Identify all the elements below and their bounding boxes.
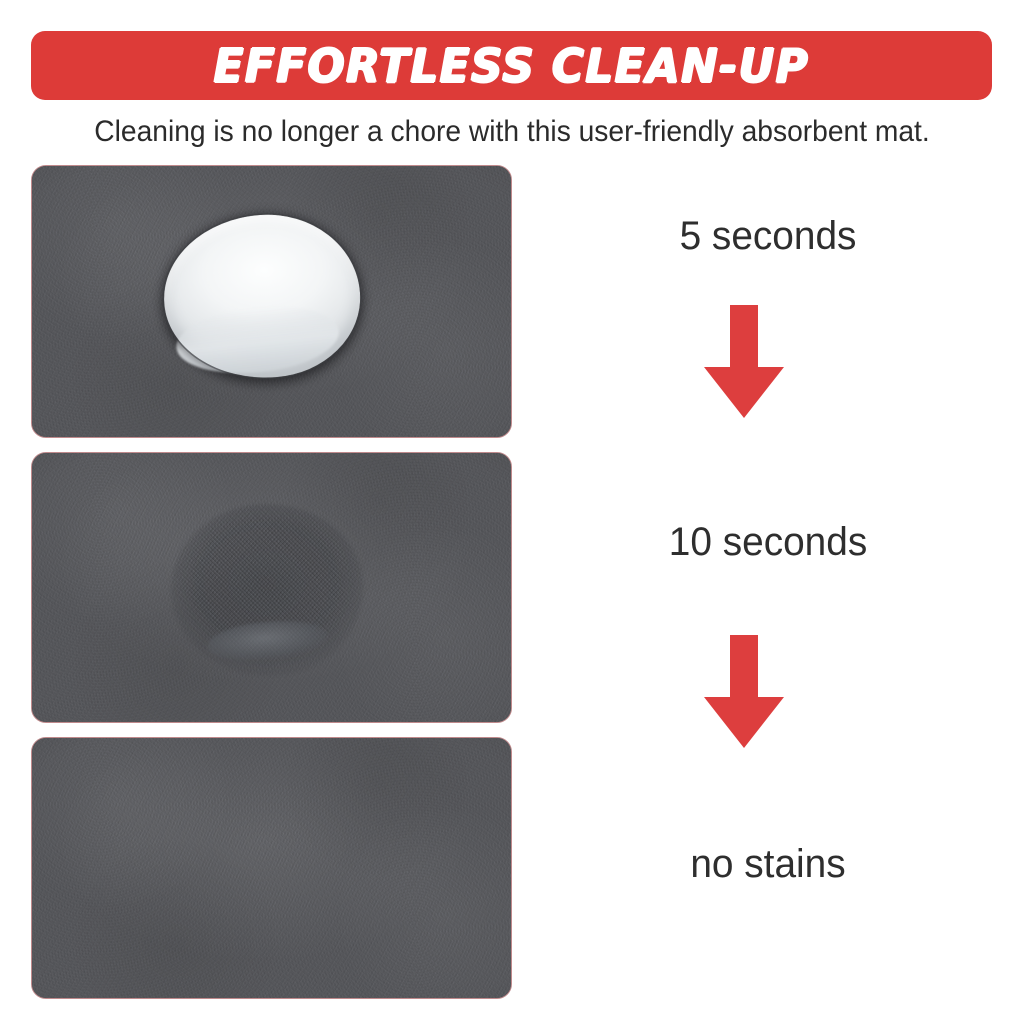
absorbing-photo-panel: [31, 452, 512, 723]
step-label-no-stains: no stains: [520, 840, 1017, 888]
page-title: EFFORTLESS CLEAN-UP: [214, 43, 809, 89]
clean-photo-panel: [31, 737, 512, 999]
infographic-page: EFFORTLESS CLEAN-UP Cleaning is no longe…: [0, 0, 1024, 1024]
header-banner: EFFORTLESS CLEAN-UP: [31, 31, 992, 100]
arrow-down-icon: [704, 305, 784, 418]
mat-texture-overlay-secondary: [31, 737, 512, 999]
step-label-5-seconds: 5 seconds: [520, 212, 1017, 260]
subtitle-text: Cleaning is no longer a chore with this …: [31, 113, 994, 151]
step-label-10-seconds: 10 seconds: [520, 518, 1017, 566]
spill-photo-panel: [31, 165, 512, 438]
arrow-down-icon: [704, 635, 784, 748]
